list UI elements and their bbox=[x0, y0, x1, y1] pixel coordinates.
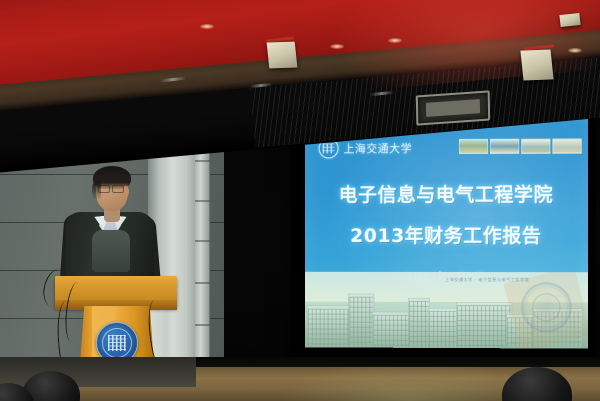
column-notch bbox=[195, 282, 210, 284]
campus-thumb-2 bbox=[490, 139, 519, 154]
projection-screen: 上海交通大学 SHANGHAI JIAO TONG UNIVERSITY 电子信… bbox=[291, 102, 595, 368]
presenter-sweater bbox=[92, 230, 130, 272]
column-notch bbox=[195, 240, 210, 242]
campus-panorama-band: 上海交通大学 · 电子信息与电气工程学院 bbox=[305, 272, 588, 349]
campus-building bbox=[456, 302, 512, 348]
photo-thumbnail-strip bbox=[459, 138, 582, 153]
slide-title-line-2: 2013年财务工作报告 bbox=[305, 221, 588, 248]
campus-thumb-1 bbox=[459, 139, 488, 154]
stage-baseboard bbox=[196, 357, 600, 367]
ceiling-fixture bbox=[559, 13, 580, 27]
ceiling-spotlight bbox=[520, 50, 553, 81]
ceiling-downlight bbox=[388, 38, 402, 43]
ceiling-spotlight bbox=[267, 42, 298, 69]
slide-title-line-1: 电子信息与电气工程学院 bbox=[305, 180, 588, 207]
campus-building bbox=[348, 294, 374, 348]
university-name-cn: 上海交通大学 bbox=[343, 140, 412, 156]
column-notch bbox=[195, 324, 210, 326]
ceiling-ac-vent-icon bbox=[416, 90, 490, 125]
ceiling-downlight bbox=[568, 48, 582, 53]
column-notch bbox=[195, 200, 210, 202]
campus-building bbox=[408, 298, 430, 348]
campus-thumb-4 bbox=[552, 138, 581, 153]
presentation-slide: 上海交通大学 SHANGHAI JIAO TONG UNIVERSITY 电子信… bbox=[305, 116, 588, 348]
ceiling-downlight bbox=[330, 44, 344, 49]
slide-footer-caption: 上海交通大学 · 电子信息与电气工程学院 bbox=[445, 277, 529, 283]
presenter-glasses bbox=[98, 185, 124, 192]
column-notch bbox=[195, 160, 210, 162]
campus-building bbox=[372, 312, 412, 348]
lecture-hall-photo: 上海交通大学 SHANGHAI JIAO TONG UNIVERSITY 电子信… bbox=[0, 0, 600, 401]
ceiling-downlight bbox=[200, 24, 214, 29]
campus-building bbox=[307, 306, 353, 348]
campus-thumb-3 bbox=[521, 139, 550, 154]
column-edge bbox=[195, 128, 209, 386]
